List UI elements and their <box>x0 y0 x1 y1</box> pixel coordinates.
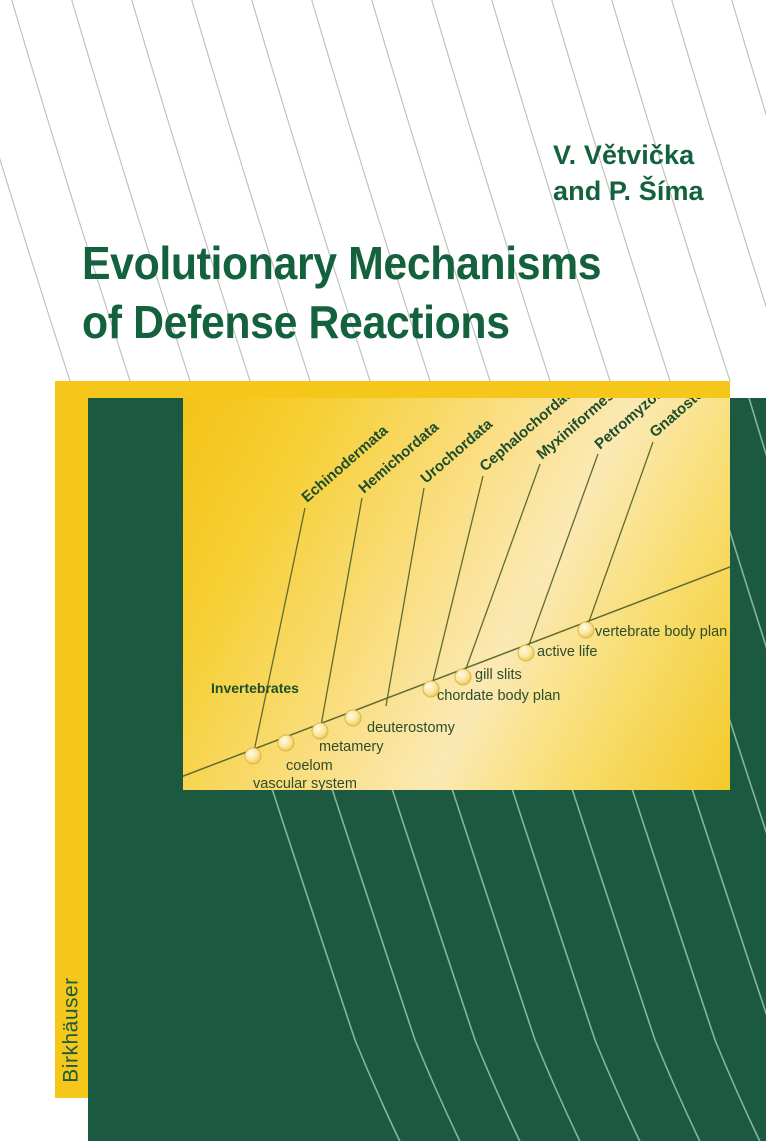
node-deuterostomy <box>345 710 361 726</box>
trait-label-vascular-system: vascular system <box>253 776 357 790</box>
trait-label-active-life: active life <box>537 644 597 660</box>
invertebrates-label: Invertebrates <box>211 680 299 696</box>
node-active-life <box>518 645 534 661</box>
trait-label-gill-slits: gill slits <box>475 667 522 683</box>
publisher-strip: Birkhäuser <box>55 962 88 1098</box>
cladogram-taxa-labels: Echinodermata Hemichordata Urochordata C… <box>298 398 720 506</box>
book-cover: Echinodermata Hemichordata Urochordata C… <box>0 0 766 1141</box>
node-gill-slits <box>455 669 471 685</box>
trait-label-deuterostomy: deuterostomy <box>367 720 456 736</box>
author-line-1: V. Větvička <box>553 137 753 173</box>
trait-label-metamery: metamery <box>319 739 384 755</box>
cladogram-svg: Echinodermata Hemichordata Urochordata C… <box>183 398 730 790</box>
title-line-1: Evolutionary Mechanisms <box>82 234 696 293</box>
trait-label-coelom: coelom <box>286 758 333 774</box>
publisher-name: Birkhäuser <box>60 977 84 1082</box>
node-metamery <box>312 723 328 739</box>
author-names: V. Větvička and P. Šíma <box>553 137 753 210</box>
title-line-2: of Defense Reactions <box>82 293 696 352</box>
node-vertebrate-body-plan <box>578 622 594 638</box>
trait-label-chordate-body-plan: chordate body plan <box>437 688 560 704</box>
node-vascular-system <box>245 748 261 764</box>
page-title: Evolutionary Mechanisms of Defense React… <box>82 234 696 352</box>
node-coelom <box>278 735 294 751</box>
trait-label-vertebrate-body-plan: vertebrate body plan <box>595 624 727 640</box>
author-line-2: and P. Šíma <box>553 173 753 209</box>
cladogram-panel: Echinodermata Hemichordata Urochordata C… <box>183 398 730 790</box>
